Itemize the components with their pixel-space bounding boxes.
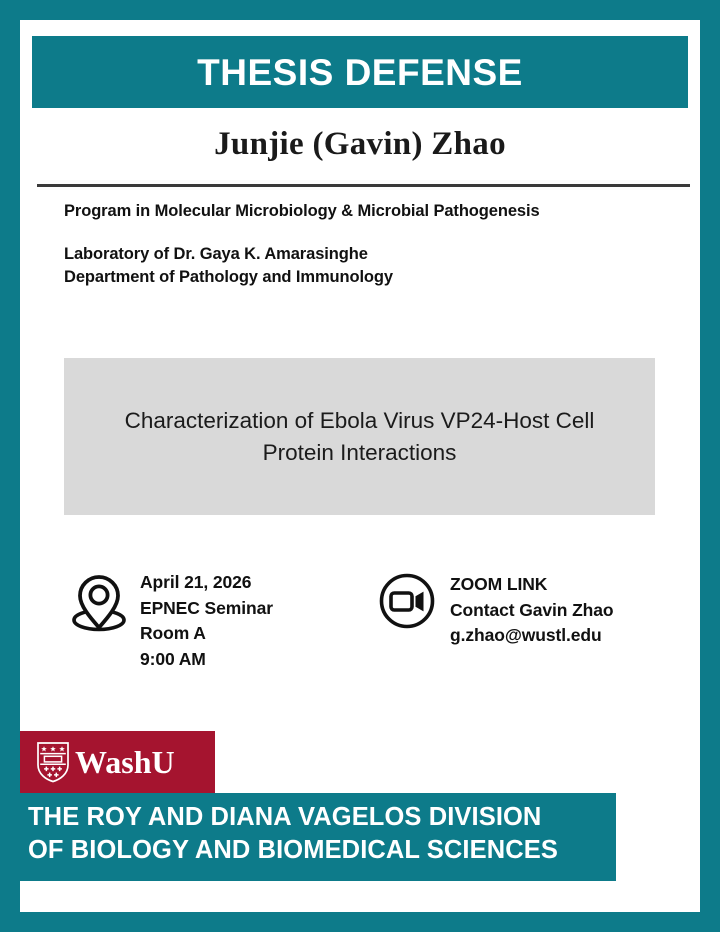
zoom-contact: Contact Gavin Zhao bbox=[450, 598, 614, 624]
lab-affiliation: Laboratory of Dr. Gaya K. Amarasinghe De… bbox=[64, 243, 393, 290]
department-line: Department of Pathology and Immunology bbox=[64, 266, 393, 289]
video-camera-icon bbox=[378, 572, 436, 630]
washu-shield-crest-icon bbox=[36, 741, 70, 783]
defense-date: April 21, 2026 bbox=[140, 570, 273, 596]
thesis-title: Characterization of Ebola Virus VP24-Hos… bbox=[92, 405, 627, 467]
zoom-text-lines: ZOOM LINK Contact Gavin Zhao g.zhao@wust… bbox=[450, 572, 614, 649]
presenter-name: Junjie (Gavin) Zhao bbox=[32, 126, 688, 163]
division-banner-line-1: THE ROY AND DIANA VAGELOS DIVISION bbox=[28, 801, 616, 834]
poster-border-top bbox=[0, 0, 720, 20]
washu-logo: WashU bbox=[20, 731, 215, 793]
header-title: THESIS DEFENSE bbox=[197, 54, 523, 91]
virtual-attendance-details: ZOOM LINK Contact Gavin Zhao g.zhao@wust… bbox=[378, 572, 614, 649]
laboratory-line: Laboratory of Dr. Gaya K. Amarasinghe bbox=[64, 243, 393, 266]
location-details: April 21, 2026 EPNEC Seminar Room A 9:00… bbox=[70, 570, 273, 673]
header-bar: THESIS DEFENSE bbox=[32, 36, 688, 108]
map-pin-icon bbox=[70, 570, 128, 632]
horizontal-divider bbox=[37, 184, 690, 187]
zoom-heading: ZOOM LINK bbox=[450, 572, 614, 598]
division-banner-line-2: OF BIOLOGY AND BIOMEDICAL SCIENCES bbox=[28, 834, 616, 867]
defense-time: 9:00 AM bbox=[140, 647, 273, 673]
program-affiliation: Program in Molecular Microbiology & Micr… bbox=[64, 200, 540, 223]
thesis-title-box: Characterization of Ebola Virus VP24-Hos… bbox=[64, 358, 655, 515]
defense-room: Room A bbox=[140, 621, 273, 647]
poster-border-bottom bbox=[0, 912, 720, 932]
division-banner: THE ROY AND DIANA VAGELOS DIVISION OF BI… bbox=[0, 793, 616, 881]
location-text-lines: April 21, 2026 EPNEC Seminar Room A 9:00… bbox=[140, 570, 273, 673]
defense-venue: EPNEC Seminar bbox=[140, 596, 273, 622]
thesis-defense-poster: THESIS DEFENSE Junjie (Gavin) Zhao Progr… bbox=[0, 0, 720, 932]
zoom-email[interactable]: g.zhao@wustl.edu bbox=[450, 623, 614, 649]
washu-wordmark: WashU bbox=[75, 746, 175, 778]
poster-border-right bbox=[700, 0, 720, 932]
